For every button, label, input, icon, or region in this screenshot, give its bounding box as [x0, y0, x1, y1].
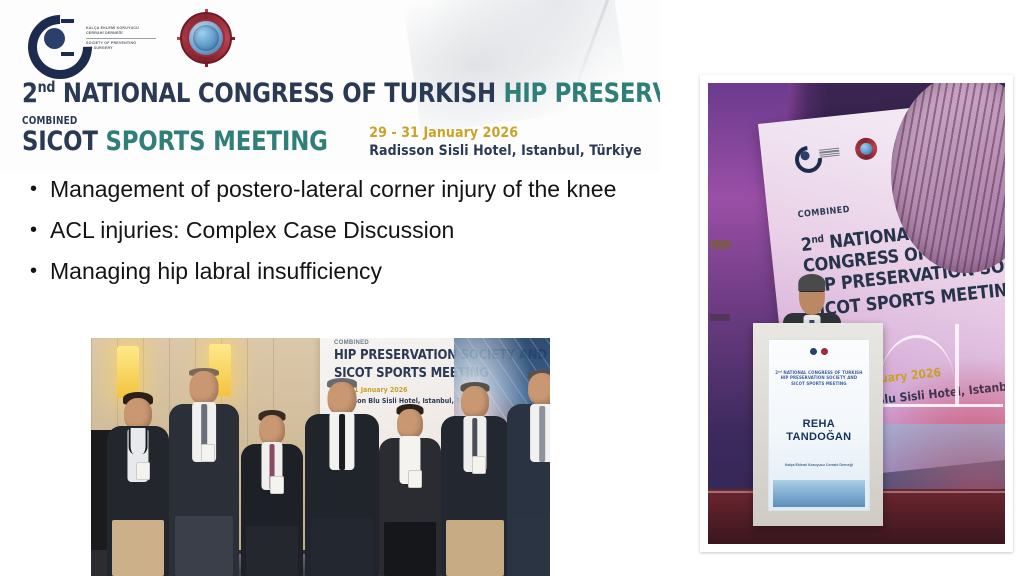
sicot-meeting-title: SICOT SPORTS MEETING — [22, 127, 328, 157]
speaker-name: REHA TANDOĞAN — [771, 418, 866, 444]
header-title-block: 2nd NATIONAL CONGRESS OF TURKISH HIP PRE… — [22, 72, 652, 160]
lectern-sign-artwork — [773, 480, 864, 507]
bullet-text: Managing hip labral insufficiency — [50, 256, 650, 286]
society-logo-text: KALÇA EKLEMİ KORUYUCU CERRAHİ DERNEĞİ SO… — [86, 26, 156, 51]
speaker-last-name: TANDOĞAN — [771, 431, 866, 444]
congress-header-banner: KALÇA EKLEMİ KORUYUCU CERRAHİ DERNEĞİ SO… — [0, 0, 660, 172]
title-ordinal-suffix: nd — [38, 78, 56, 96]
society-logo-line-2: CERRAHİ DERNEĞİ — [86, 31, 156, 35]
bullet-text: Management of postero-lateral corner inj… — [50, 174, 650, 204]
speaker-first-name: REHA — [771, 418, 866, 431]
group-photo: COMBINED HIP PRESERVATION SOCIETY AND SI… — [91, 338, 550, 576]
podium-photo-frame: COMBINED 2nd NATIONAL CONGRESS OF TURKIS… — [700, 75, 1013, 552]
list-item: • Management of postero-lateral corner i… — [30, 174, 650, 204]
society-logo-line-1: KALÇA EKLEMİ KORUYUCU — [86, 26, 156, 30]
header-logo-group: KALÇA EKLEMİ KORUYUCU CERRAHİ DERNEĞİ SO… — [28, 12, 232, 64]
event-venue: Radisson Sisli Hotel, Istanbul, Türkiye — [369, 142, 642, 160]
backdrop-logo-text-lines — [819, 148, 840, 159]
lectern: 2ⁿᵈ NATIONAL CONGRESS OF TURKISH HIP PRE… — [753, 323, 884, 526]
list-item: • ACL injuries: Complex Case Discussion — [30, 215, 650, 245]
wall-beam — [710, 314, 731, 321]
speaker-role: Kalça Eklemi Koruyucu Cerrahi Derneği — [773, 463, 864, 467]
lectern-congress-text: 2ⁿᵈ NATIONAL CONGRESS OF TURKISH HIP PRE… — [773, 371, 864, 388]
sicot-logo-icon — [821, 348, 828, 355]
backdrop-combined-label: COMBINED — [798, 205, 851, 220]
sicot-and-meta-row: SICOT SPORTS MEETING 29 - 31 January 202… — [22, 127, 652, 160]
group-photo-person — [305, 378, 379, 576]
group-photo-person — [441, 382, 509, 576]
society-logo-line-4: HIP SURGERY — [86, 46, 156, 50]
group-photo-person — [169, 368, 239, 576]
event-meta: 29 - 31 January 2026 Radisson Sisli Hote… — [369, 125, 642, 160]
talk-topics-list: • Management of postero-lateral corner i… — [30, 174, 650, 297]
bullet-marker-icon: • — [30, 174, 50, 204]
society-logo-line-3: SOCIETY OF PREVENTING — [86, 41, 156, 45]
sicot-logo-icon — [180, 12, 232, 64]
title-highlight: HIP PRESERVATION — [503, 78, 660, 109]
group-photo-person — [107, 392, 169, 576]
sicot-word: SICOT — [22, 126, 105, 157]
backdrop-logos — [794, 137, 879, 168]
hip-preservation-society-logo-icon — [28, 13, 82, 63]
wall-lamp-icon — [117, 346, 139, 398]
slide-canvas: KALÇA EKLEMİ KORUYUCU CERRAHİ DERNEĞİ SO… — [0, 0, 1024, 576]
wall-beam — [711, 240, 730, 249]
title-ordinal: 2 — [22, 78, 38, 109]
group-photo-person — [379, 404, 441, 576]
group-photo-person — [241, 410, 303, 576]
hip-preservation-society-logo-icon — [810, 348, 817, 355]
list-item: • Managing hip labral insufficiency — [30, 256, 650, 286]
podium-photo: COMBINED 2nd NATIONAL CONGRESS OF TURKIS… — [708, 83, 1005, 544]
bullet-text: ACL injuries: Complex Case Discussion — [50, 215, 650, 245]
lectern-sign-logos — [810, 348, 828, 355]
congress-title: 2nd NATIONAL CONGRESS OF TURKISH HIP PRE… — [22, 72, 614, 109]
sicot-logo-icon — [854, 137, 878, 161]
lectern-name-sign: 2ⁿᵈ NATIONAL CONGRESS OF TURKISH HIP PRE… — [768, 339, 869, 511]
backdrop-combined-label: COMBINED — [334, 340, 369, 346]
eyeglasses-icon — [800, 291, 824, 298]
hip-preservation-society-logo-icon — [794, 144, 818, 167]
group-photo-person — [507, 370, 550, 576]
event-date: 29 - 31 January 2026 — [369, 125, 642, 142]
bullet-marker-icon: • — [30, 256, 50, 286]
title-part-1: NATIONAL CONGRESS OF TURKISH — [55, 78, 503, 109]
sports-meeting-words: SPORTS MEETING — [105, 126, 327, 157]
bullet-marker-icon: • — [30, 215, 50, 245]
